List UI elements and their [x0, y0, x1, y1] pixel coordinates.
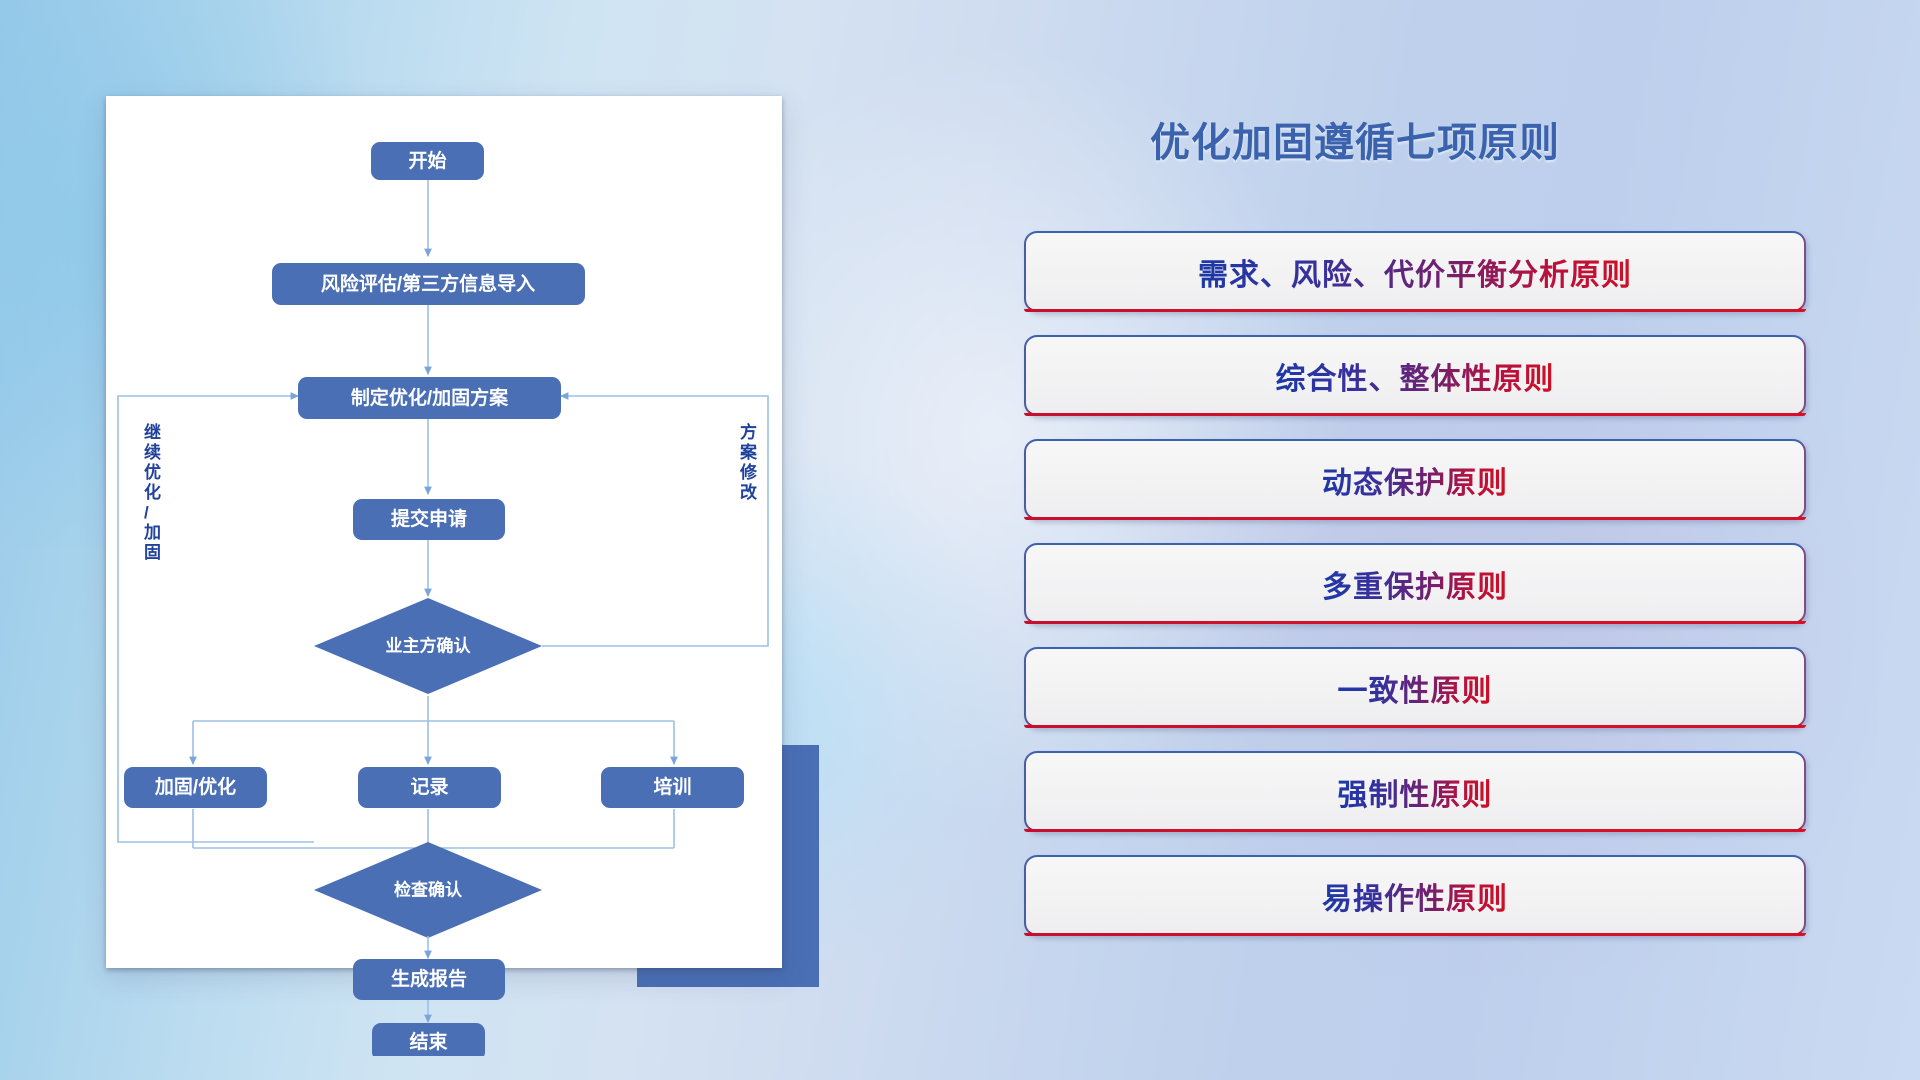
flow-node-start[interactable]: 开始: [371, 142, 484, 180]
flow-node-end-label: 结束: [409, 1030, 448, 1053]
flow-node-start-label: 开始: [408, 149, 446, 172]
flow-node-assess-label: 风险评估/第三方信息导入: [321, 272, 535, 295]
flow-node-submit-label: 提交申请: [391, 507, 467, 530]
flow-node-submit[interactable]: 提交申请: [353, 499, 505, 540]
flow-node-reinforce-label: 加固/优化: [154, 775, 236, 798]
flow-node-reinforce[interactable]: 加固/优化: [124, 767, 267, 808]
principle-label: 一致性原则: [1338, 666, 1493, 710]
principles-panel: 优化加固遵循七项原则 需求、风险、代价平衡分析原则 综合性、整体性原则 动态保护…: [1024, 96, 1824, 996]
principle-item-5[interactable]: 一致性原则: [1024, 647, 1806, 728]
flow-node-check-label: 检查确认: [394, 879, 463, 899]
flow-node-train[interactable]: 培训: [601, 767, 744, 808]
flowchart-diagram: 开始 风险评估/第三方信息导入 制定优化/加固方案 提交申请 业主方确认 加固/…: [106, 96, 782, 968]
principle-label: 动态保护原则: [1322, 458, 1508, 502]
flow-node-end[interactable]: 结束: [372, 1023, 485, 1056]
flow-node-record-label: 记录: [410, 776, 448, 798]
principle-label: 易操作性原则: [1322, 874, 1508, 918]
principle-label: 多重保护原则: [1322, 562, 1508, 606]
flowchart-card: 开始 风险评估/第三方信息导入 制定优化/加固方案 提交申请 业主方确认 加固/…: [106, 96, 782, 968]
flow-node-report-box-label: 生成报告: [391, 967, 467, 990]
principle-item-2[interactable]: 综合性、整体性原则: [1024, 335, 1806, 416]
page-title: 优化加固遵循七项原则: [1150, 110, 1560, 168]
flow-node-owner-confirm-label: 业主方确认: [386, 635, 472, 655]
flow-node-owner-confirm[interactable]: 业主方确认: [314, 598, 542, 694]
principle-item-4[interactable]: 多重保护原则: [1024, 543, 1806, 624]
principle-label: 综合性、整体性原则: [1276, 354, 1555, 398]
flow-node-assess[interactable]: 风险评估/第三方信息导入: [272, 263, 585, 305]
flow-node-record[interactable]: 记录: [358, 767, 501, 808]
right-loop-label: 方案修改: [739, 422, 758, 502]
flow-node-train-label: 培训: [653, 775, 691, 798]
principles-list: 需求、风险、代价平衡分析原则 综合性、整体性原则 动态保护原则 多重保护原则 一…: [1024, 231, 1806, 936]
flow-node-report-box[interactable]: 生成报告: [353, 959, 505, 1000]
principle-item-3[interactable]: 动态保护原则: [1024, 439, 1806, 520]
left-loop-label: 继续优化/加固: [143, 422, 161, 562]
flowchart-diagram-bottom: 生成报告 结束: [106, 936, 782, 1056]
principle-item-1[interactable]: 需求、风险、代价平衡分析原则: [1024, 231, 1806, 312]
principle-label: 强制性原则: [1338, 770, 1493, 814]
flow-node-plan[interactable]: 制定优化/加固方案: [298, 377, 561, 419]
flow-node-check[interactable]: 检查确认: [314, 842, 542, 938]
principle-label: 需求、风险、代价平衡分析原则: [1198, 250, 1632, 294]
right-loop-connector: [542, 396, 768, 646]
flow-node-plan-label: 制定优化/加固方案: [351, 386, 509, 409]
principle-item-6[interactable]: 强制性原则: [1024, 751, 1806, 832]
principle-item-7[interactable]: 易操作性原则: [1024, 855, 1806, 936]
